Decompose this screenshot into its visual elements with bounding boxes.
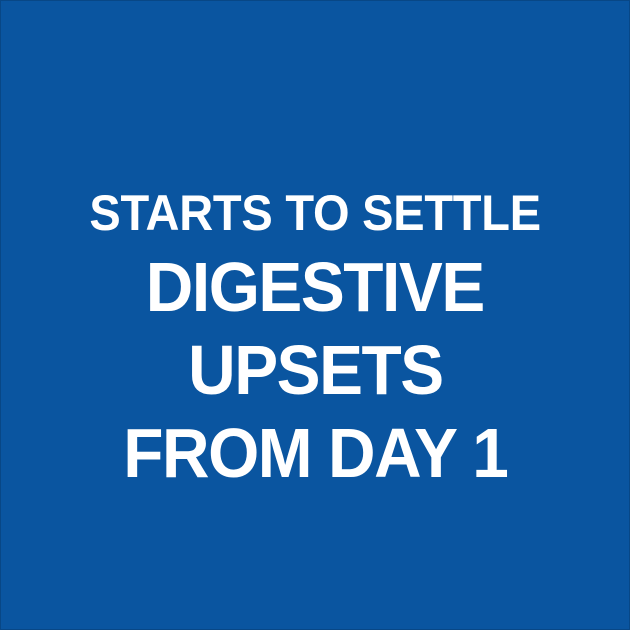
headline-line-1: STARTS TO SETTLE: [89, 188, 540, 238]
headline-block: STARTS TO SETTLE DIGESTIVE UPSETS FROM D…: [0, 188, 630, 488]
headline-line-3: UPSETS: [188, 335, 443, 405]
headline-line-4: FROM DAY 1: [123, 418, 507, 488]
headline-line-2: DIGESTIVE: [146, 252, 484, 322]
promo-graphic: STARTS TO SETTLE DIGESTIVE UPSETS FROM D…: [0, 0, 630, 630]
